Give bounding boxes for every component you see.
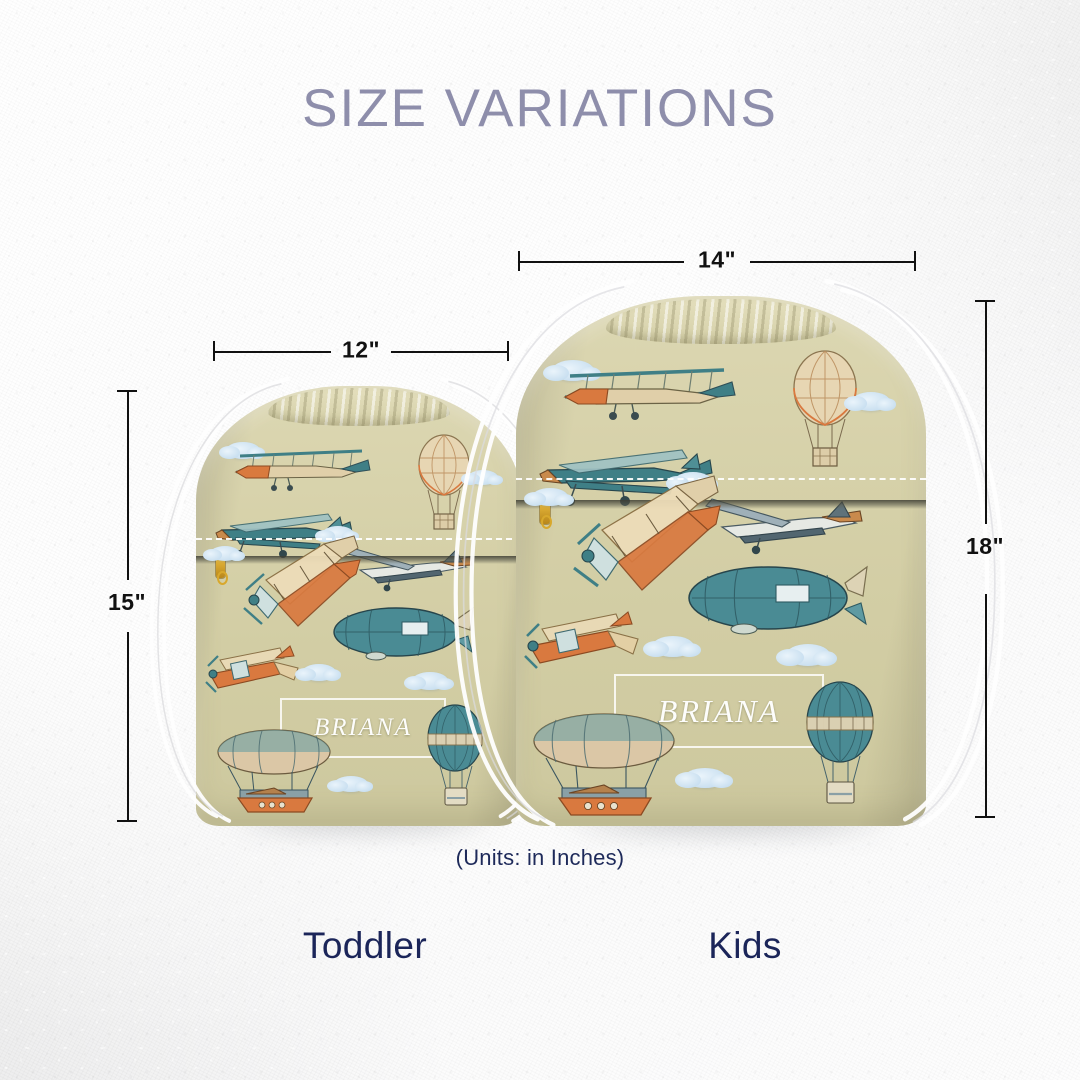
dimension-kids-height: 18" xyxy=(970,300,1000,818)
airship-zeppelin-motif xyxy=(682,552,868,642)
dimension-tick xyxy=(117,820,137,822)
dimension-value-height-toddler: 15" xyxy=(108,589,146,616)
cloud-motif xyxy=(684,768,726,788)
dimension-bar xyxy=(985,300,987,524)
airship-zeppelin-motif xyxy=(212,722,340,818)
hot-air-balloon-motif xyxy=(788,348,862,474)
cloud-motif xyxy=(786,644,830,666)
dimension-tick xyxy=(914,251,916,271)
cloud-motif xyxy=(334,776,368,792)
airship-zeppelin-motif xyxy=(328,596,474,666)
product-size-chart: SIZE VARIATIONS xyxy=(0,0,1080,1080)
dimension-bar xyxy=(213,351,331,353)
dimension-toddler-width: 12" xyxy=(213,336,509,366)
zipper-pull-icon[interactable] xyxy=(216,558,225,578)
cloud-motif xyxy=(210,546,240,561)
dimension-tick xyxy=(507,341,509,361)
units-note: (Units: in Inches) xyxy=(0,845,1080,871)
airship-zeppelin-motif xyxy=(526,704,686,822)
dimension-tick xyxy=(975,816,995,818)
cloud-motif xyxy=(302,664,336,681)
cloud-motif xyxy=(468,470,498,485)
product-image-toddler[interactable]: BRIANA xyxy=(196,386,522,826)
dimension-bar xyxy=(127,390,129,580)
drawstring-gather-kids xyxy=(606,299,836,344)
dimension-kids-width: 14" xyxy=(518,246,916,276)
biplane-motif xyxy=(230,438,376,494)
page-title: SIZE VARIATIONS xyxy=(0,78,1080,139)
dimension-tick xyxy=(518,251,520,271)
hot-air-balloon-motif xyxy=(424,702,486,812)
biplane-motif xyxy=(558,354,742,424)
dimension-bar xyxy=(518,261,684,263)
dimension-tick xyxy=(117,390,137,392)
hot-air-balloon-motif xyxy=(802,678,878,812)
dimension-bar xyxy=(127,632,129,822)
product-label-kids: Kids xyxy=(600,925,890,967)
dimension-tick xyxy=(975,300,995,302)
dimension-bar xyxy=(985,594,987,818)
cloud-motif xyxy=(412,672,448,690)
product-label-toddler: Toddler xyxy=(210,925,520,967)
dimension-tick xyxy=(213,341,215,361)
dimension-value-width-toddler: 12" xyxy=(333,336,389,363)
cloud-motif xyxy=(652,636,694,657)
bag-body-kids: BRIANA xyxy=(516,296,926,826)
cloud-motif xyxy=(532,488,568,506)
dimension-toddler-height: 15" xyxy=(112,390,142,822)
product-image-kids[interactable]: BRIANA xyxy=(516,296,926,826)
bag-body-toddler: BRIANA xyxy=(196,386,522,826)
dimension-value-height-kids: 18" xyxy=(966,533,1004,560)
cloud-motif xyxy=(852,392,890,411)
dimension-value-width-kids: 14" xyxy=(689,246,745,273)
dimension-bar xyxy=(391,351,509,353)
dimension-bar xyxy=(750,261,916,263)
drawstring-gather-toddler xyxy=(268,388,451,425)
